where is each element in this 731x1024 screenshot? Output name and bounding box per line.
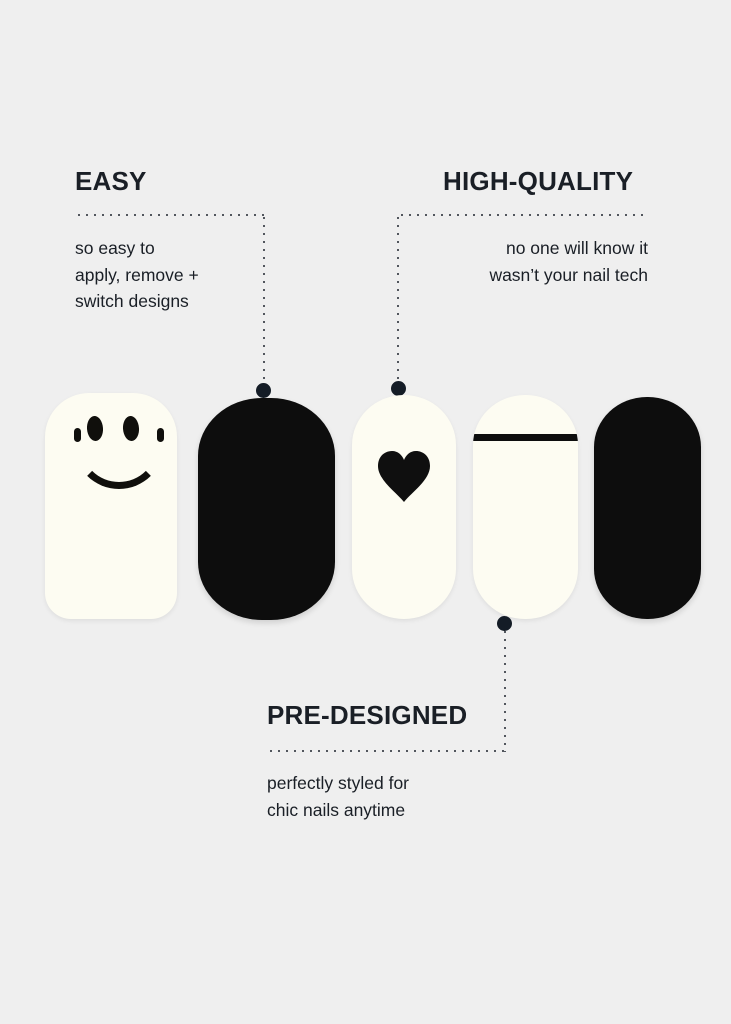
callout-easy: EASY <box>75 168 147 194</box>
callout-pre-designed-body-line-1: perfectly styled for <box>267 770 527 797</box>
callout-easy-rule-horizontal <box>75 214 265 216</box>
callout-high-quality-anchor-dot <box>391 381 406 396</box>
callout-high-quality-body-line-2: wasn’t your nail tech <box>398 262 648 289</box>
callout-easy-body-line-2: apply, remove + <box>75 262 275 289</box>
nail-smiley-face[interactable] <box>45 393 177 619</box>
smiley-mouth-icon <box>74 427 164 489</box>
infographic-canvas: EASY so easy to apply, remove + switch d… <box>0 0 731 1024</box>
callout-easy-body-line-1: so easy to <box>75 235 275 262</box>
heart-icon <box>376 450 432 502</box>
callout-pre-designed-title: PRE-DESIGNED <box>267 702 467 728</box>
nail-heart[interactable] <box>352 395 456 619</box>
callout-high-quality-body: no one will know it wasn’t your nail tec… <box>398 235 648 288</box>
nail-solid-black-left[interactable] <box>198 398 335 620</box>
callout-pre-designed-body-line-2: chic nails anytime <box>267 797 527 824</box>
callout-pre-designed-rule-vertical <box>504 628 506 752</box>
callout-high-quality-rule-horizontal <box>398 214 648 216</box>
callout-easy-body-line-3: switch designs <box>75 288 275 315</box>
callout-easy-anchor-dot <box>256 383 271 398</box>
callout-pre-designed: PRE-DESIGNED <box>267 702 467 728</box>
callout-easy-body: so easy to apply, remove + switch design… <box>75 235 275 315</box>
callout-high-quality-body-line-1: no one will know it <box>398 235 648 262</box>
callout-high-quality-title: HIGH-QUALITY <box>443 168 633 194</box>
callout-high-quality-rule-vertical <box>397 214 399 388</box>
callout-easy-title: EASY <box>75 168 147 194</box>
callout-easy-rule-vertical <box>263 214 265 390</box>
nail-solid-black-right[interactable] <box>594 397 701 619</box>
callout-high-quality: HIGH-QUALITY <box>443 168 633 194</box>
nail-french-stripe[interactable] <box>473 395 578 619</box>
french-stripe-line <box>473 434 578 441</box>
callout-pre-designed-body: perfectly styled for chic nails anytime <box>267 770 527 823</box>
callout-pre-designed-rule-horizontal <box>267 750 506 752</box>
